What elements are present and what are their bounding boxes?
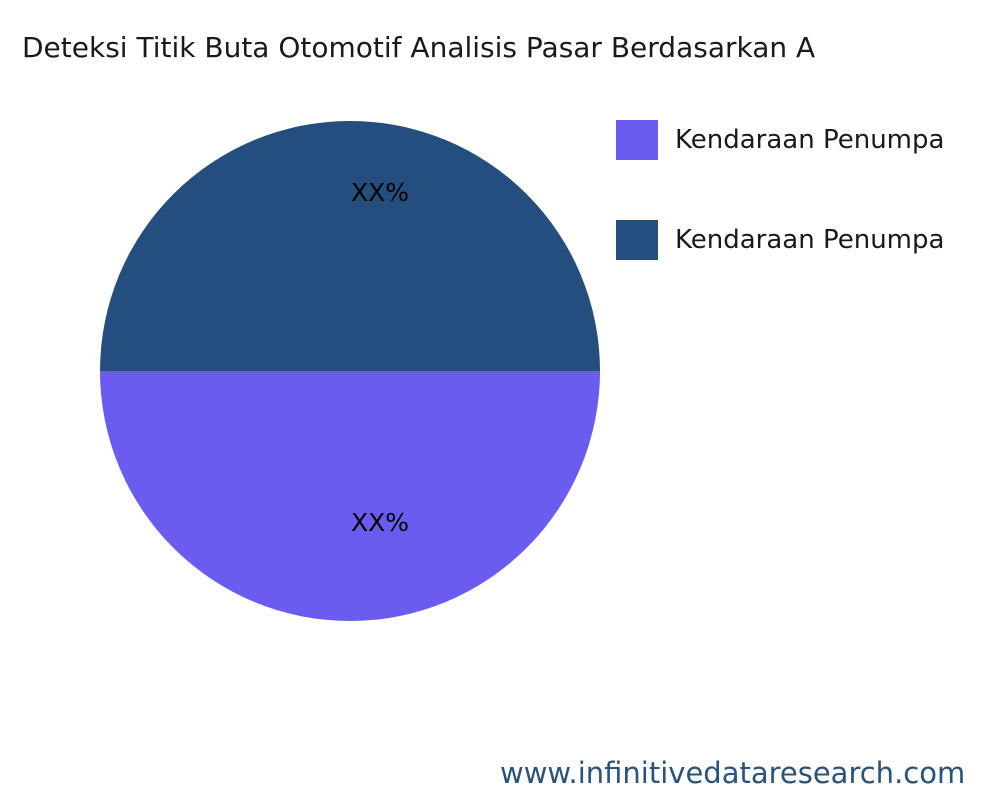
legend-swatch-icon-0 [616,120,658,160]
legend-item-0[interactable]: Kendaraan Penumpa [616,120,1000,220]
pie-chart-figure: Deteksi Titik Buta Otomotif Analisis Pas… [0,0,1000,800]
legend-item-1[interactable]: Kendaraan Penumpa [616,220,1000,320]
chart-legend: Kendaraan Penumpa Kendaraan Penumpa [616,120,1000,320]
legend-label-1: Kendaraan Penumpa [675,224,944,256]
pie-slice-0[interactable] [100,371,600,621]
legend-swatch-icon-1 [616,220,658,260]
chart-title: Deteksi Titik Buta Otomotif Analisis Pas… [22,28,1000,68]
pie-svg [100,121,600,621]
footer-website-url: www.infinitivedataresearch.com [500,755,965,791]
legend-label-0: Kendaraan Penumpa [675,124,944,156]
pie-slice-1[interactable] [100,121,600,371]
pie-plot-area [100,121,600,621]
